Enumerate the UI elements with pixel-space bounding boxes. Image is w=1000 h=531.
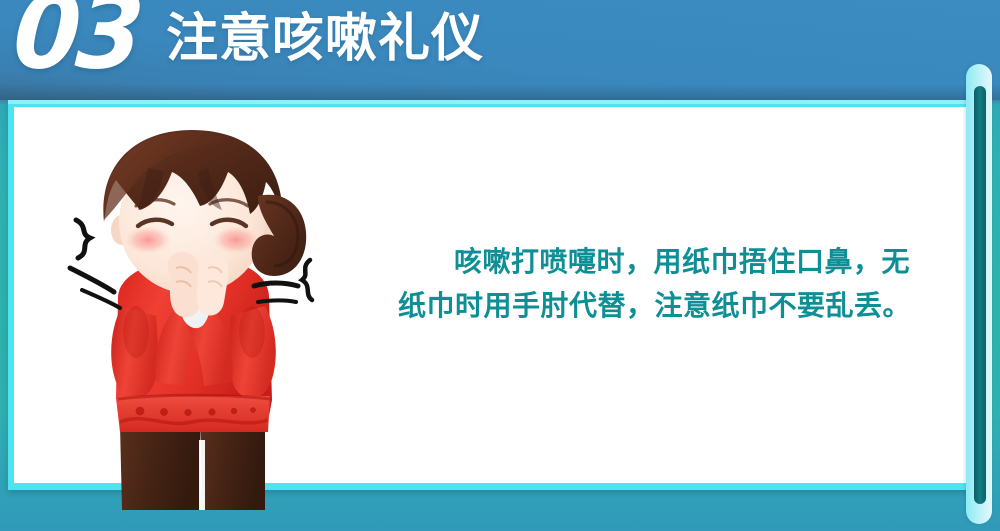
- page-title: 注意咳嗽礼仪: [166, 6, 484, 72]
- slide-header: 03 注意咳嗽礼仪: [0, 0, 620, 100]
- right-accent-pill-core: [974, 86, 986, 504]
- illustration-pants: [120, 425, 265, 510]
- section-number-badge: 03: [10, 0, 143, 84]
- right-accent-pill: [966, 64, 992, 524]
- slide-canvas: 03 注意咳嗽礼仪 咳嗽打喷嚏时，用纸巾捂住口鼻，无纸巾时用手肘代替，注意纸巾不…: [0, 0, 1000, 531]
- coughing-girl-illustration: [60, 110, 360, 510]
- body-paragraph: 咳嗽打喷嚏时，用纸巾捂住口鼻，无纸巾时用手肘代替，注意纸巾不要乱丢。: [398, 240, 938, 328]
